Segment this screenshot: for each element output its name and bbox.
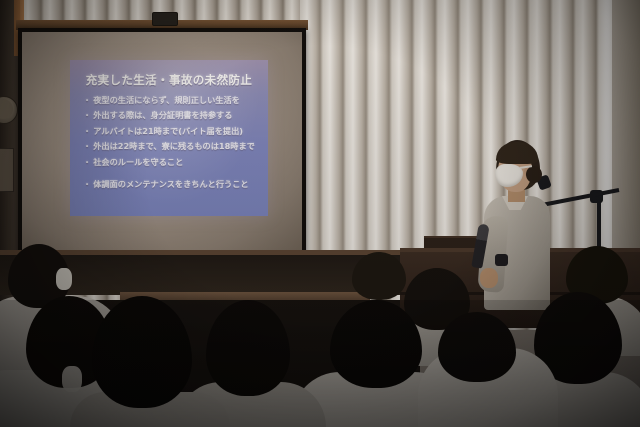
notice-board [0,148,14,192]
slide-bullet-text: 体調面のメンテナンスをきちんと行うこと [93,179,248,189]
presenter [470,140,580,310]
slide-bullet-item-final: ・体調面のメンテナンスをきちんと行うこと [83,180,263,188]
projector-icon [152,12,178,26]
slide-bullet-item: ・夜型の生活にならず、規則正しい生活を [83,96,263,104]
slide-bullet-text: 夜型の生活にならず、規則正しい生活を [93,95,240,105]
audience-member-head [352,252,406,300]
slide-bullet-list: ・夜型の生活にならず、規則正しい生活を ・外出する際は、身分証明書を持参する ・… [83,96,263,195]
slide-bullet-text: アルバイトは21時まで(バイト届を提出) [93,126,243,136]
presenter-hair-front [496,142,538,164]
slide-bullet-item: ・外出は22時まで、寮に残るものは18時まで [83,142,263,150]
bullet-marker-icon: ・ [83,141,91,151]
audience-face-mask [62,366,82,392]
presenter-hair-bun [526,166,542,183]
wrist-watch-icon [495,254,508,266]
bullet-marker-icon: ・ [83,95,91,105]
slide-bullet-item: ・外出する際は、身分証明書を持参する [83,111,263,119]
slide-bullet-text: 社会のルールを守ること [93,157,183,167]
bullet-marker-icon: ・ [83,179,91,189]
audience-face-mask [56,268,72,290]
slide-bullet-text: 外出する際は、身分証明書を持参する [93,110,232,120]
slide-title: 充実した生活・事故の未然防止 [70,72,268,88]
presenter-hand [480,268,498,288]
projected-slide: 充実した生活・事故の未然防止 ・夜型の生活にならず、規則正しい生活を ・外出する… [70,60,268,216]
presentation-photo-scene: 充実した生活・事故の未然防止 ・夜型の生活にならず、規則正しい生活を ・外出する… [0,0,640,427]
bullet-marker-icon: ・ [83,126,91,136]
bullet-marker-icon: ・ [83,110,91,120]
slide-bullet-item: ・アルバイトは21時まで(バイト届を提出) [83,127,263,135]
slide-bullet-text: 外出は22時まで、寮に残るものは18時まで [93,141,255,151]
bullet-marker-icon: ・ [83,157,91,167]
slide-bullet-item: ・社会のルールを守ること [83,158,263,166]
clock-face [0,99,13,119]
